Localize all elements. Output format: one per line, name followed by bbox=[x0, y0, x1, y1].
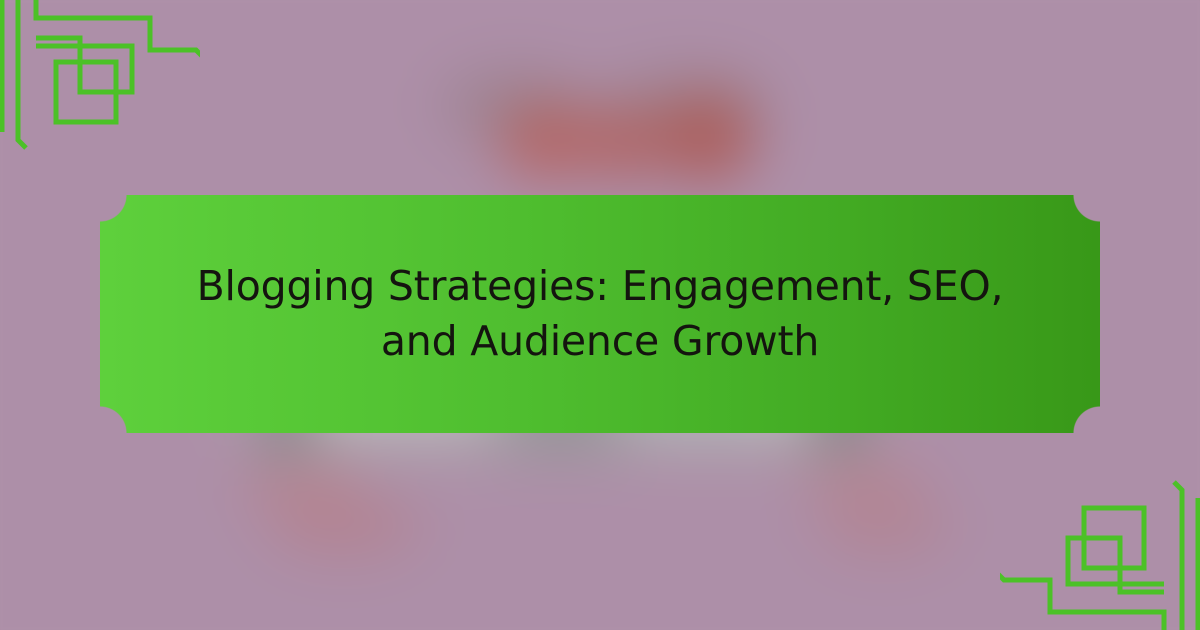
background-blur-shape bbox=[820, 495, 950, 555]
background-blur-shape bbox=[580, 108, 666, 178]
background-blur-shape bbox=[658, 95, 754, 181]
page-title: Blogging Strategies: Engagement, SEO, an… bbox=[190, 259, 1010, 368]
background-blur-shape bbox=[500, 105, 592, 177]
background-blur-shape bbox=[270, 495, 420, 555]
title-banner: Blogging Strategies: Engagement, SEO, an… bbox=[100, 195, 1100, 433]
social-card: Blogging Strategies: Engagement, SEO, an… bbox=[0, 0, 1200, 630]
